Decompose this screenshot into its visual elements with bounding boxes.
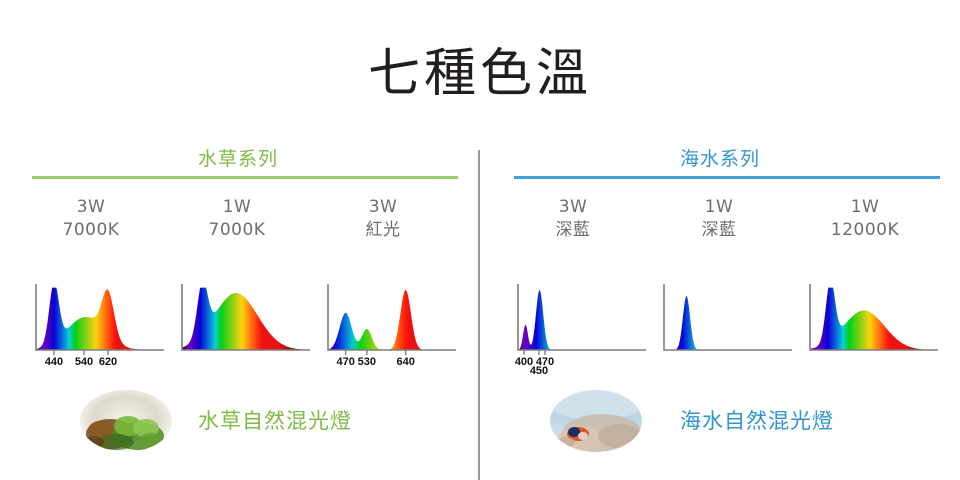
footer-marine: 海水自然混光燈 bbox=[500, 386, 940, 480]
column-marine-2: 1W 12000K bbox=[792, 196, 938, 242]
series-header-marine: 海水系列 bbox=[500, 150, 940, 184]
column-temp-plant-1: 7000K bbox=[164, 219, 310, 242]
spectrum-chart-1w-deep-blue bbox=[646, 276, 792, 376]
series-title-marine: 海水系列 bbox=[500, 148, 940, 170]
column-power-plant-1: 1W bbox=[164, 196, 310, 219]
column-power-marine-2: 1W bbox=[792, 196, 938, 219]
column-marine-1: 1W 深藍 bbox=[646, 196, 792, 242]
svg-text:440: 440 bbox=[45, 356, 63, 368]
column-temp-plant-0: 7000K bbox=[18, 219, 164, 242]
spectrum-chart-1w-12000k bbox=[792, 276, 938, 376]
caption-plant: 水草自然混光燈 bbox=[198, 408, 458, 434]
footer-plant: 水草自然混光燈 bbox=[18, 386, 458, 480]
spectrum-chart-1w-7000k bbox=[164, 276, 310, 376]
column-power-plant-0: 3W bbox=[18, 196, 164, 219]
column-power-plant-2: 3W bbox=[310, 196, 456, 219]
series-title-plant: 水草系列 bbox=[18, 148, 458, 170]
svg-text:640: 640 bbox=[396, 356, 414, 368]
caption-marine: 海水自然混光燈 bbox=[680, 408, 940, 434]
column-power-marine-0: 3W bbox=[500, 196, 646, 219]
column-temp-marine-1: 深藍 bbox=[646, 219, 792, 242]
series-header-plant: 水草系列 bbox=[18, 150, 458, 184]
svg-text:540: 540 bbox=[75, 356, 93, 368]
column-temp-marine-0: 深藍 bbox=[500, 219, 646, 242]
spectrum-chart-3w-red: 470530640 bbox=[310, 276, 456, 376]
section-divider bbox=[478, 150, 480, 480]
svg-text:620: 620 bbox=[99, 356, 117, 368]
section-marine-series: 海水系列 3W 深藍 1W 深藍 1W 12000K 400450470 bbox=[500, 150, 940, 480]
column-plant-1: 1W 7000K bbox=[164, 196, 310, 242]
spectrum-charts-marine: 400450470 bbox=[500, 276, 940, 376]
poster-root: 七種色溫 水草系列 3W 7000K 1W 7000K 3W 紅光 440540… bbox=[0, 0, 960, 480]
column-power-marine-1: 1W bbox=[646, 196, 792, 219]
svg-text:470: 470 bbox=[536, 356, 554, 368]
series-rule-plant bbox=[32, 176, 458, 179]
svg-text:470: 470 bbox=[336, 356, 354, 368]
section-plant-series: 水草系列 3W 7000K 1W 7000K 3W 紅光 440540620 4… bbox=[18, 150, 458, 480]
series-rule-marine bbox=[514, 176, 940, 179]
svg-text:530: 530 bbox=[358, 356, 376, 368]
spectrum-charts-plant: 440540620 470530640 bbox=[18, 276, 458, 376]
column-plant-0: 3W 7000K bbox=[18, 196, 164, 242]
spectrum-chart-3w-deep-blue: 400450470 bbox=[500, 276, 646, 376]
column-marine-0: 3W 深藍 bbox=[500, 196, 646, 242]
clownfish-anemone-photo bbox=[550, 390, 642, 452]
column-temp-marine-2: 12000K bbox=[792, 219, 938, 242]
column-plant-2: 3W 紅光 bbox=[310, 196, 456, 242]
aquatic-plants-photo bbox=[80, 390, 172, 452]
spectrum-chart-3w-7000k: 440540620 bbox=[18, 276, 164, 376]
page-title: 七種色溫 bbox=[0, 44, 960, 104]
column-temp-plant-2: 紅光 bbox=[310, 219, 456, 242]
